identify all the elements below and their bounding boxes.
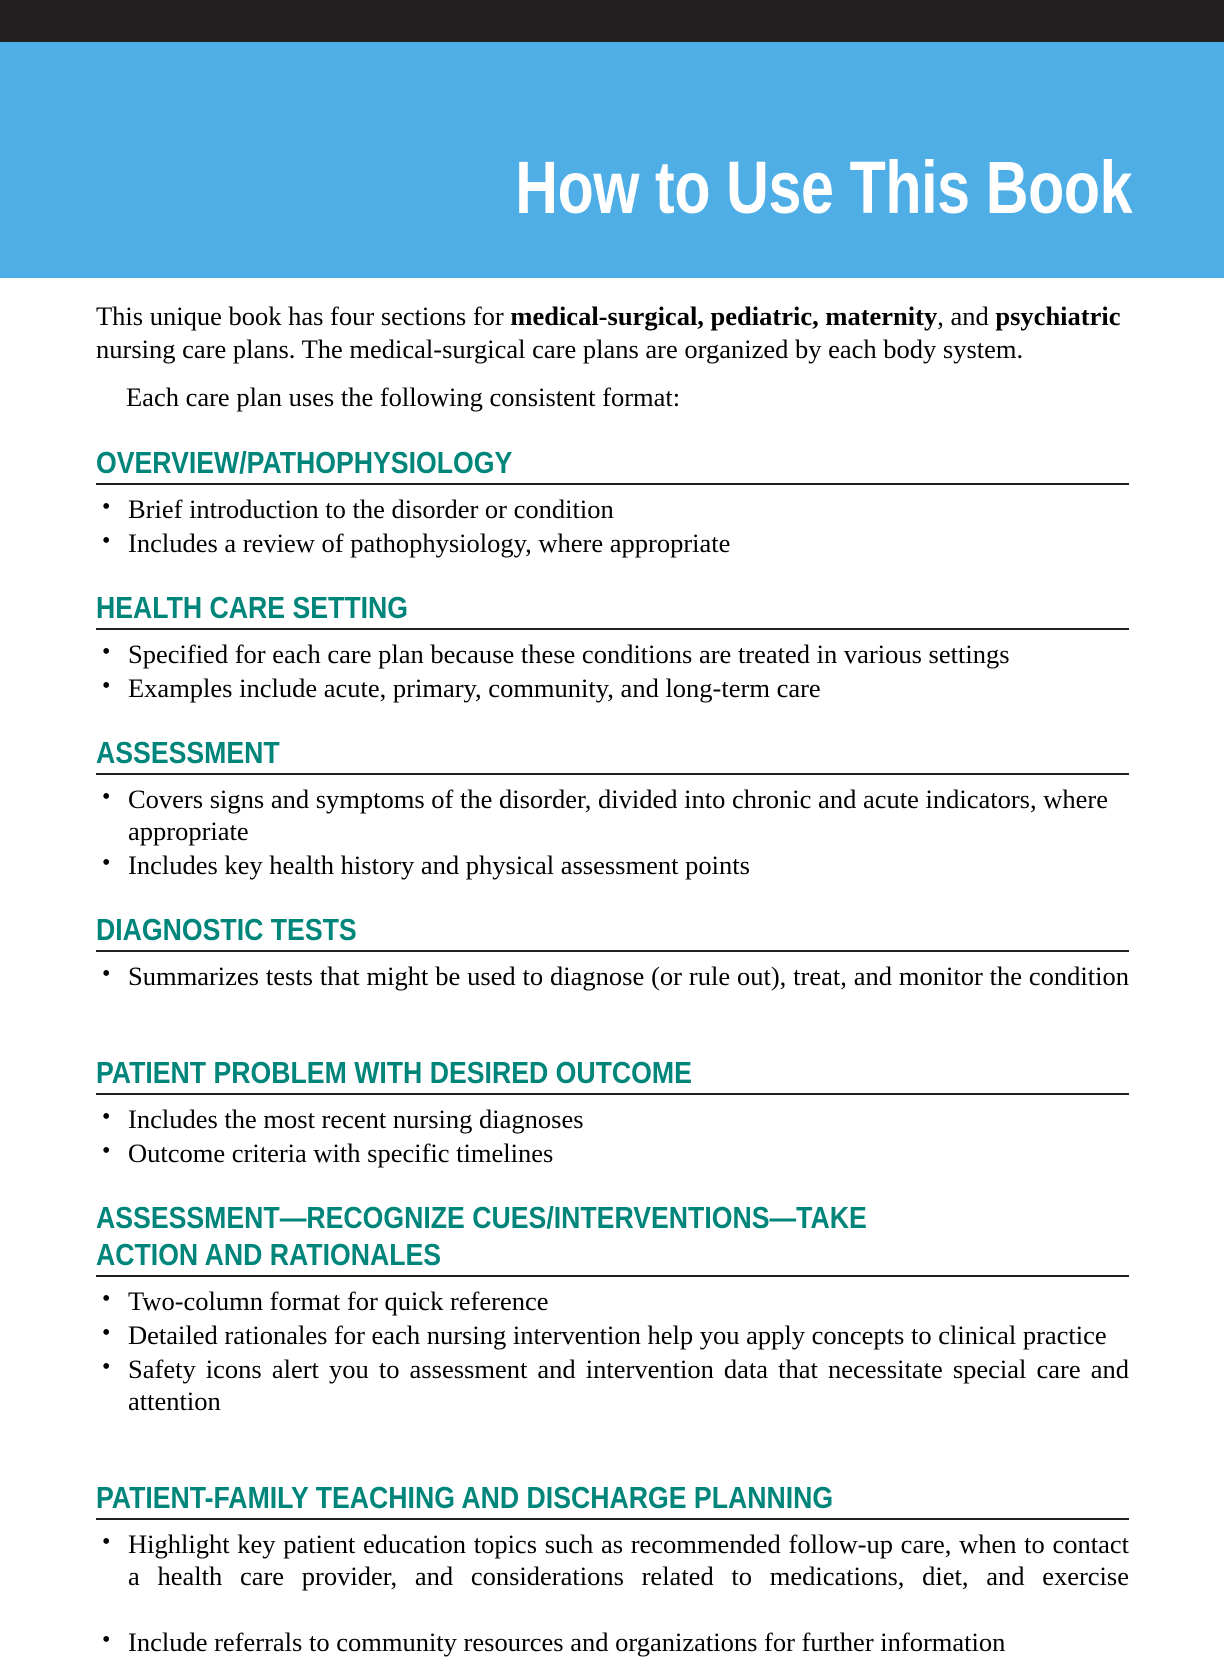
intro-format-line: Each care plan uses the following consis… — [96, 381, 1129, 414]
section-heading: OVERVIEW/PATHOPHYSIOLOGY — [96, 444, 1127, 481]
section-heading: HEALTH CARE SETTING — [96, 589, 1127, 626]
list-item: Covers signs and symptoms of the disorde… — [96, 783, 1129, 847]
section-bullet-list: Two-column format for quick reference De… — [96, 1285, 1129, 1449]
section-divider — [96, 1275, 1129, 1277]
page-content: This unique book has four sections for m… — [96, 278, 1129, 1660]
intro-text-part2: , and — [937, 301, 995, 331]
list-item: Examples include acute, primary, communi… — [96, 672, 1129, 704]
section-divider — [96, 773, 1129, 775]
section-diagnostic-tests: DIAGNOSTIC TESTS Summarizes tests that m… — [96, 911, 1129, 1024]
section-heading: PATIENT-FAMILY TEACHING AND DISCHARGE PL… — [96, 1479, 1127, 1516]
section-assessment-recognize-cues-interventions: ASSESSMENT—RECOGNIZE CUES/INTERVENTIONS—… — [96, 1199, 1129, 1449]
section-bullet-list: Highlight key patient education topics s… — [96, 1528, 1129, 1658]
list-item: Detailed rationales for each nursing int… — [96, 1319, 1129, 1351]
section-heading: DIAGNOSTIC TESTS — [96, 911, 1127, 948]
list-item: Outcome criteria with specific timelines — [96, 1137, 1129, 1169]
section-overview-pathophysiology: OVERVIEW/PATHOPHYSIOLOGY Brief introduct… — [96, 444, 1129, 559]
list-item: Specified for each care plan because the… — [96, 638, 1129, 670]
section-bullet-list: Specified for each care plan because the… — [96, 638, 1129, 704]
section-patient-problem-with-desired-outcome: PATIENT PROBLEM WITH DESIRED OUTCOME Inc… — [96, 1054, 1129, 1169]
section-heading: ASSESSMENT — [96, 734, 1127, 771]
list-item: Includes key health history and physical… — [96, 849, 1129, 881]
intro-paragraph: This unique book has four sections for m… — [96, 300, 1129, 366]
section-divider — [96, 1093, 1129, 1095]
list-item: Brief introduction to the disorder or co… — [96, 493, 1129, 525]
list-item: Safety icons alert you to assessment and… — [96, 1353, 1129, 1449]
list-item: Summarizes tests that might be used to d… — [96, 960, 1129, 1024]
intro-bold-psychiatric: psychiatric — [995, 301, 1120, 331]
intro-text-part1: This unique book has four sections for — [96, 301, 510, 331]
intro-text-part3: nursing care plans. The medical-surgical… — [96, 334, 1023, 364]
section-patient-family-teaching-and-discharge-planning: PATIENT-FAMILY TEACHING AND DISCHARGE PL… — [96, 1479, 1129, 1658]
page-header-banner: How to Use This Book — [0, 42, 1224, 278]
section-divider — [96, 950, 1129, 952]
list-item: Includes a review of pathophysiology, wh… — [96, 527, 1129, 559]
section-bullet-list: Includes the most recent nursing diagnos… — [96, 1103, 1129, 1169]
section-divider — [96, 1518, 1129, 1520]
list-item: Includes the most recent nursing diagnos… — [96, 1103, 1129, 1135]
top-black-bar — [0, 0, 1224, 42]
list-item: Highlight key patient education topics s… — [96, 1528, 1129, 1624]
section-bullet-list: Summarizes tests that might be used to d… — [96, 960, 1129, 1024]
section-heading: PATIENT PROBLEM WITH DESIRED OUTCOME — [96, 1054, 1127, 1091]
list-item: Include referrals to community resources… — [96, 1626, 1129, 1658]
section-bullet-list: Covers signs and symptoms of the disorde… — [96, 783, 1129, 881]
section-health-care-setting: HEALTH CARE SETTING Specified for each c… — [96, 589, 1129, 704]
section-bullet-list: Brief introduction to the disorder or co… — [96, 493, 1129, 559]
section-assessment: ASSESSMENT Covers signs and symptoms of … — [96, 734, 1129, 881]
section-divider — [96, 628, 1129, 630]
intro-bold-sections: medical-surgical, pediatric, maternity — [510, 301, 937, 331]
section-divider — [96, 483, 1129, 485]
section-heading: ASSESSMENT—RECOGNIZE CUES/INTERVENTIONS—… — [96, 1199, 1127, 1273]
list-item: Two-column format for quick reference — [96, 1285, 1129, 1317]
page-title: How to Use This Book — [515, 150, 1132, 226]
